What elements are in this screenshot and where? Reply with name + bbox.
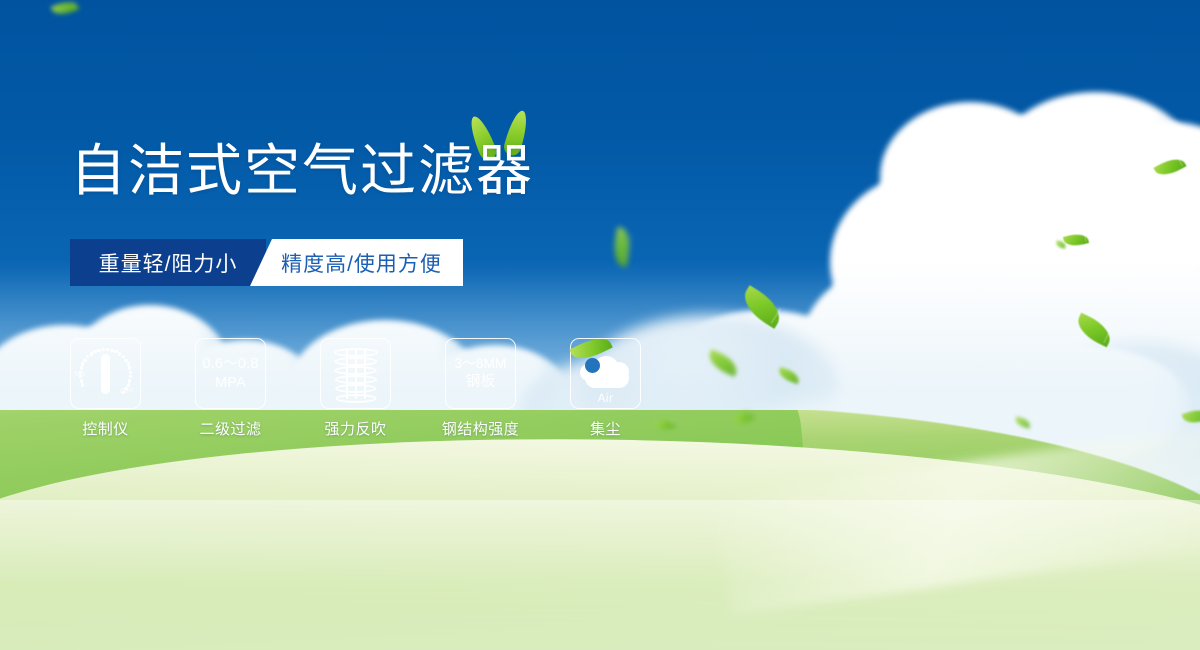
feature-item-backblow[interactable]: 强力反吹 (320, 338, 391, 439)
gauge-tick-dot (81, 383, 84, 386)
coil-ring (334, 348, 378, 357)
gauge-tick-dot (127, 383, 130, 386)
gauge-tick-dot (124, 359, 127, 362)
leaf-decoration (1056, 240, 1067, 248)
page-title: 自洁式空气过滤器 (70, 143, 534, 199)
pressure-value-line2: MPA (215, 374, 246, 392)
gauge-tick-dot (118, 352, 121, 355)
feature-label: 集尘 (590, 418, 621, 439)
feature-label: 二级过滤 (199, 418, 261, 439)
coil-ring (334, 357, 377, 366)
feature-item-dust-collection[interactable]: Air 集尘 (570, 338, 641, 439)
gauge-tick-dot (129, 371, 132, 374)
feature-icon-box: 0.6～0.8 MPA (195, 338, 266, 409)
air-label: Air (577, 393, 635, 405)
leaf-decoration (777, 367, 801, 384)
coil-ring (335, 384, 377, 393)
leaf-decoration (1063, 231, 1089, 248)
product-banner: 自洁式空气过滤器 重量轻/阻力小 精度高/使用方便 NO OFF 控制仪 0.6 (0, 0, 1200, 650)
gauge-tick-dot (80, 379, 83, 382)
filter-coil-icon (333, 346, 379, 402)
leaf-decoration (737, 285, 787, 329)
leaf-decoration (1153, 154, 1186, 180)
gauge-tick-dot (93, 350, 96, 353)
feature-item-controller[interactable]: NO OFF 控制仪 (70, 338, 141, 439)
feature-label: 强力反吹 (324, 418, 386, 439)
gauge-tick-dot (80, 366, 83, 369)
gauge-icon: NO OFF (76, 345, 136, 403)
gauge-tick-dot (128, 379, 131, 382)
coil-ring (334, 366, 377, 375)
feature-icon-box (320, 338, 391, 409)
gauge-tick-dot (97, 349, 100, 352)
subtitle-left-panel: 重量轻/阻力小 (70, 239, 266, 286)
gauge-tick-dot (90, 352, 93, 355)
gauge-tick-dot (86, 355, 89, 358)
subtitle-bar: 重量轻/阻力小 精度高/使用方便 (70, 239, 463, 286)
grass-highlight (0, 500, 1200, 650)
feature-label: 钢结构强度 (442, 418, 520, 439)
leaf-decoration (611, 227, 633, 267)
cloud-notch (585, 358, 600, 373)
gauge-tick-dot (79, 375, 82, 378)
gauge-tick-dot (102, 348, 105, 351)
steel-value-line1: 3～8MM (454, 356, 506, 373)
subtitle-right-text: 精度高/使用方便 (281, 248, 442, 278)
leaf-decoration (51, 0, 80, 18)
gauge-tick-dot (122, 355, 125, 358)
gauge-tick-dot (129, 375, 132, 378)
leaf-decoration (1073, 313, 1116, 348)
coil-ring (335, 394, 376, 403)
gauge-tick-dot (114, 350, 117, 353)
gauge-needle (101, 354, 110, 394)
subtitle-left-text: 重量轻/阻力小 (99, 248, 238, 278)
feature-list: NO OFF 控制仪 0.6～0.8 MPA 二级过滤 强 (70, 338, 641, 439)
subtitle-right-panel: 精度高/使用方便 (250, 239, 463, 286)
feature-item-secondary-filter[interactable]: 0.6～0.8 MPA 二级过滤 (195, 338, 266, 439)
feature-item-steel-strength[interactable]: 3～8MM 钢板 钢结构强度 (445, 338, 516, 439)
gauge-tick-dot (106, 348, 109, 351)
feature-icon-box: Air (570, 338, 641, 409)
grass-field (0, 410, 1200, 650)
gauge-tick-dot (127, 362, 130, 365)
pressure-value-line1: 0.6～0.8 (202, 355, 258, 373)
gauge-tick-dot (128, 366, 131, 369)
feature-icon-box: NO OFF (70, 338, 141, 409)
gauge-tick-dot (81, 362, 84, 365)
steel-value-line2: 钢板 (466, 373, 495, 391)
gauge-tick-dot (83, 359, 86, 362)
feature-label: 控制仪 (82, 418, 129, 439)
gauge-tick-dot (122, 391, 125, 394)
coil-ring (334, 375, 376, 384)
air-cloud-icon: Air (577, 348, 635, 400)
feature-icon-box: 3～8MM 钢板 (445, 338, 516, 409)
leaf-decoration (705, 349, 741, 377)
gauge-tick-dot (110, 349, 113, 352)
